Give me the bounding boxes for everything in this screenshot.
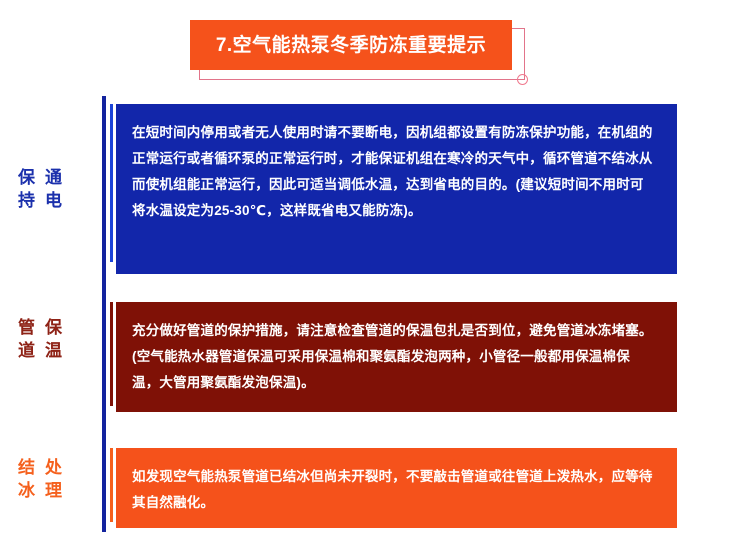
label-char: 保 <box>45 316 62 339</box>
section-pipe-insulation: 管 道 保 温 充分做好管道的保护措施，请注意检查管道的保温包扎是否到位，避免管… <box>0 302 751 412</box>
section-panel-icing-handling: 如发现空气能热泵管道已结冰但尚未开裂时，不要敲击管道或往管道上泼热水，应等待其自… <box>116 448 677 528</box>
section-label-pipe-insulation: 管 道 保 温 <box>18 316 96 362</box>
circle-outline-icon <box>517 74 528 85</box>
section-keep-power-on: 保 持 通 电 在短时间内停用或者无人使用时请不要断电，因机组都设置有防冻保护功… <box>0 104 751 274</box>
section-body-text: 在短时间内停用或者无人使用时请不要断电，因机组都设置有防冻保护功能，在机组的正常… <box>132 120 655 224</box>
label-char: 温 <box>45 339 62 362</box>
label-column-2: 处 理 <box>45 456 62 502</box>
label-char: 处 <box>45 456 62 479</box>
label-column-1: 管 道 <box>18 316 35 362</box>
section-label-icing-handling: 结 冰 处 理 <box>18 456 96 502</box>
section-panel-keep-power-on: 在短时间内停用或者无人使用时请不要断电，因机组都设置有防冻保护功能，在机组的正常… <box>116 104 677 274</box>
label-char: 结 <box>18 456 35 479</box>
header-banner: 7.空气能热泵冬季防冻重要提示 <box>190 20 512 70</box>
label-column-1: 保 持 <box>18 166 35 212</box>
page-title: 7.空气能热泵冬季防冻重要提示 <box>216 36 486 55</box>
section-body-text: 如发现空气能热泵管道已结冰但尚未开裂时，不要敲击管道或往管道上泼热水，应等待其自… <box>132 464 655 516</box>
label-char: 管 <box>18 316 35 339</box>
label-char: 持 <box>18 189 35 212</box>
label-column-2: 通 电 <box>45 166 62 212</box>
label-char: 道 <box>18 339 35 362</box>
label-char: 保 <box>18 166 35 189</box>
section-label-keep-power-on: 保 持 通 电 <box>18 166 96 212</box>
header-banner-group: 7.空气能热泵冬季防冻重要提示 <box>190 20 520 74</box>
label-char: 电 <box>45 189 62 212</box>
label-char: 理 <box>45 479 62 502</box>
label-char: 冰 <box>18 479 35 502</box>
section-icing-handling: 结 冰 处 理 如发现空气能热泵管道已结冰但尚未开裂时，不要敲击管道或往管道上泼… <box>0 448 751 528</box>
infographic-page: 7.空气能热泵冬季防冻重要提示 保 持 通 电 在短时间内停用或者无人使用时请不… <box>0 0 751 554</box>
panel-accent-bar <box>110 104 113 262</box>
panel-accent-bar <box>110 448 113 522</box>
panel-accent-bar <box>110 302 113 406</box>
section-body-text: 充分做好管道的保护措施，请注意检查管道的保温包扎是否到位，避免管道冰冻堵塞。(空… <box>132 318 655 396</box>
label-column-1: 结 冰 <box>18 456 35 502</box>
section-panel-pipe-insulation: 充分做好管道的保护措施，请注意检查管道的保温包扎是否到位，避免管道冰冻堵塞。(空… <box>116 302 677 412</box>
label-column-2: 保 温 <box>45 316 62 362</box>
label-char: 通 <box>45 166 62 189</box>
